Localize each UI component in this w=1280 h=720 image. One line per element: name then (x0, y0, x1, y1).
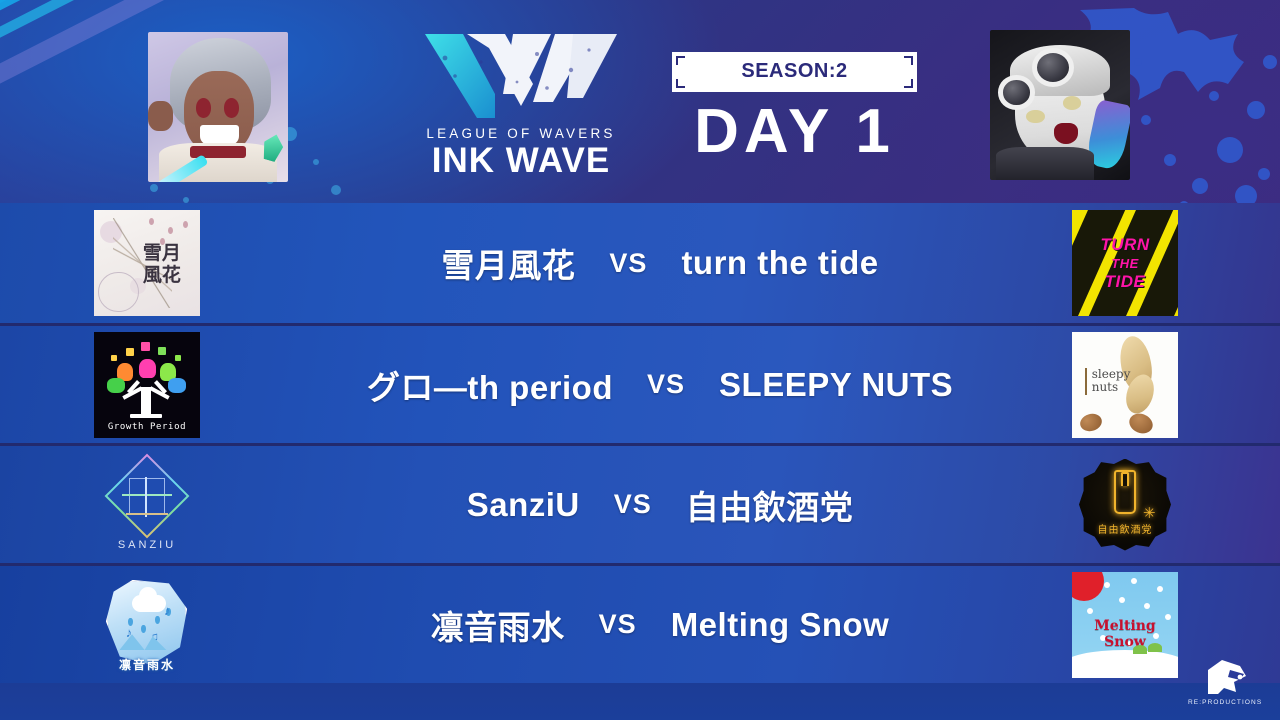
team-a-name: 雪月風花 (441, 239, 575, 287)
season-day-block: SEASON:2 DAY 1 (672, 52, 917, 166)
event-title: INK WAVE (396, 143, 646, 180)
player-avatar-right (990, 30, 1130, 180)
sleepy-nuts-logo: sleepy nuts (1072, 332, 1178, 438)
rinne-usui-logo: ♪ ♫ ♪ 凛音雨水 (94, 572, 200, 678)
sake-caption: 自由飲酒党 (1072, 521, 1178, 536)
match-row[interactable]: Growth Period グロ―th period VS SLEEPY NUT… (0, 323, 1280, 443)
melting-snow-logo: Melting Snow (1072, 572, 1178, 678)
tide-line-2: THE (1111, 256, 1139, 271)
producer-watermark: RE:PRODUCTIONS (1188, 657, 1262, 706)
season-label: SEASON:2 (741, 60, 847, 82)
player-avatar-left (148, 32, 288, 182)
nuts-line-1: sleepy (1092, 368, 1131, 382)
tide-line-1: TURN (1100, 235, 1149, 255)
tide-line-3: TIDE (1105, 272, 1146, 292)
vs-label: VS (609, 248, 647, 279)
watermark-label: RE:PRODUCTIONS (1188, 699, 1262, 706)
event-logo: LEAGUE OF WAVERS INK WAVE (396, 30, 646, 180)
nuts-line-2: nuts (1092, 381, 1131, 395)
logo-kanji: 雪月風花 (134, 225, 189, 306)
turn-the-tide-logo: TURN THE TIDE (1072, 210, 1178, 316)
team-b-name: turn the tide (681, 244, 878, 282)
growth-period-logo: Growth Period (94, 332, 200, 438)
jiyuuinshutou-logo: ✳ 自由飲酒党 (1072, 452, 1178, 558)
team-b-name: 自由飲酒党 (686, 481, 854, 529)
vs-label: VS (599, 609, 637, 640)
ink-wave-mark-icon (396, 30, 646, 118)
growth-period-caption: Growth Period (94, 422, 200, 432)
header: LEAGUE OF WAVERS INK WAVE SEASON:2 DAY 1 (0, 0, 1280, 200)
team-b-name: Melting Snow (671, 606, 890, 644)
vs-label: VS (647, 369, 685, 400)
melting-snow-caption: Melting Snow (1072, 618, 1178, 650)
vs-label: VS (614, 489, 652, 520)
match-row[interactable]: SANZIU SanziU VS 自由飲酒党 ✳ 自由飲酒党 (0, 443, 1280, 563)
match-row[interactable]: ♪ ♫ ♪ 凛音雨水 凛音雨水 VS Melting Snow (0, 563, 1280, 683)
rinne-usui-caption: 凛音雨水 (94, 656, 200, 673)
team-a-name: SanziU (467, 486, 580, 524)
team-a-name: 凛音雨水 (431, 601, 565, 649)
season-badge: SEASON:2 (672, 52, 917, 92)
league-subtitle: LEAGUE OF WAVERS (396, 126, 646, 141)
sparkle-icon: ✳ (1143, 507, 1157, 521)
day-label: DAY 1 (672, 98, 917, 166)
team-a-name: グロ―th period (367, 361, 613, 409)
match-row[interactable]: 雪月風花 雪月風花 VS turn the tide TURN THE TIDE (0, 203, 1280, 323)
re-productions-icon (1188, 657, 1262, 697)
sanziu-logo: SANZIU (94, 452, 200, 558)
sanziu-caption: SANZIU (94, 539, 200, 551)
team-b-name: SLEEPY NUTS (719, 366, 953, 404)
match-list: 雪月風花 雪月風花 VS turn the tide TURN THE TIDE (0, 203, 1280, 683)
setsugetsufuka-logo: 雪月風花 (94, 210, 200, 316)
broadcast-overlay: LEAGUE OF WAVERS INK WAVE SEASON:2 DAY 1 (0, 0, 1280, 720)
